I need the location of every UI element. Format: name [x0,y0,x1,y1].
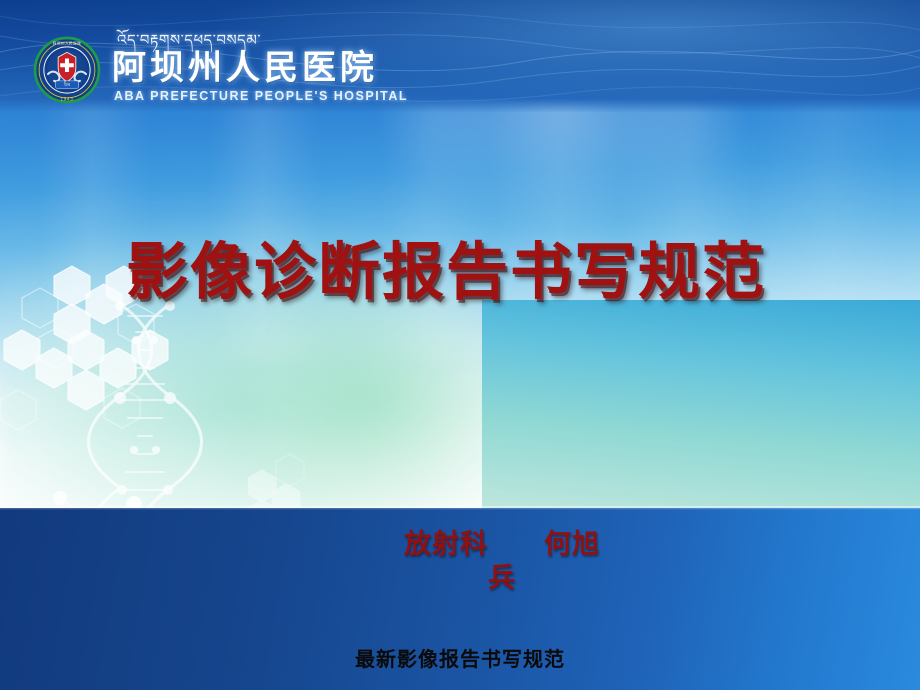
page-title: 影像诊断报告书写规范 [126,236,766,308]
footer-note: 最新影像报告书写规范 [0,643,920,672]
footer-note-text: 最新影像报告书写规范 [355,643,565,672]
hospital-emblem-logo: འིཡ 阿坝州人民医院 1943 [33,36,101,104]
lower-band-highlight [0,506,920,510]
hospital-name-english: ABA PREFECTURE PEOPLE'S HOSPITAL [114,89,408,103]
presentation-slide: འིཡ 阿坝州人民医院 1943 འོད་བརྟགས་དཕད་བསདམ་ 阿坝州… [0,0,920,690]
hospital-name-chinese: 阿坝州人民医院 [112,48,378,88]
hospital-name-tibetan: འོད་བརྟགས་དཕད་བསདམ་ [117,24,377,50]
hospital-building-photo [482,300,920,512]
logo-year: 1943 [60,97,73,102]
presenter-line: 放射科 何旭兵 [394,528,610,596]
svg-text:阿坝州人民医院: 阿坝州人民医院 [53,41,81,46]
building-sky [482,300,920,512]
